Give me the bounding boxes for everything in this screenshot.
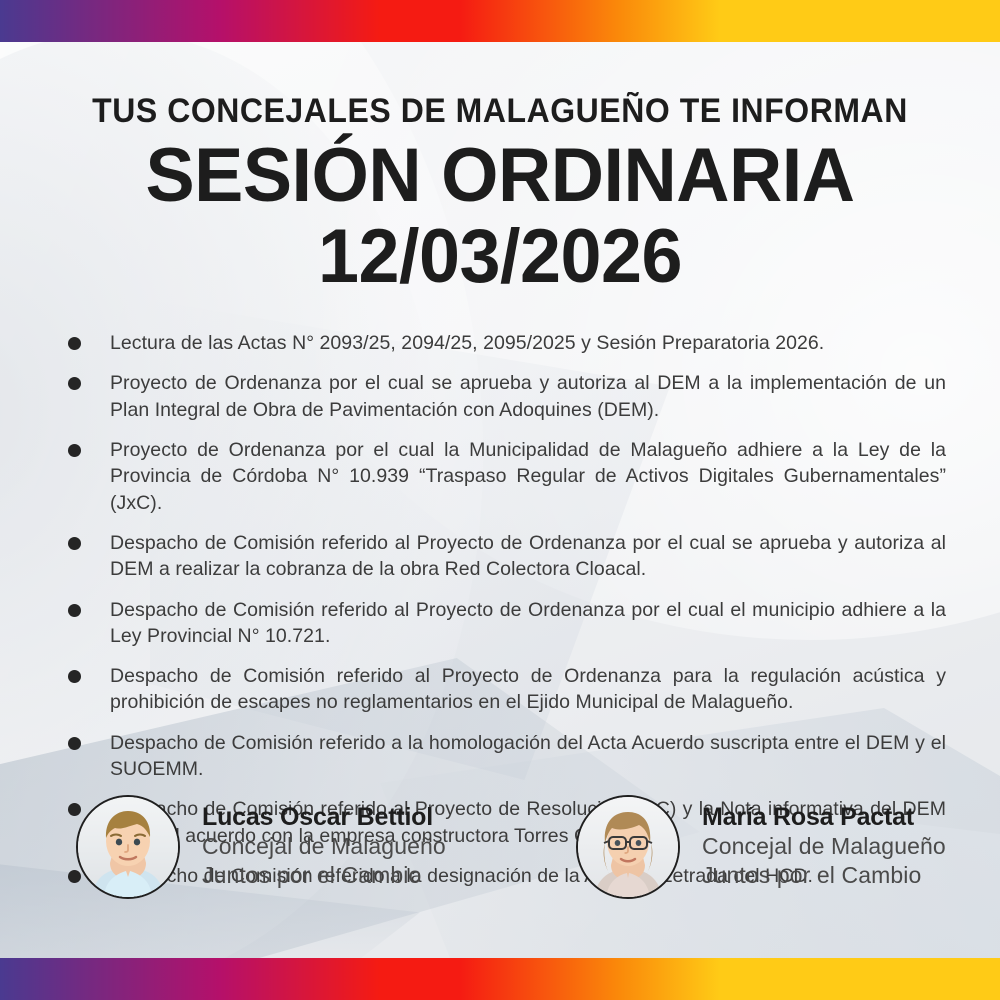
agenda-item-text: Lectura de las Actas N° 2093/25, 2094/25…: [110, 330, 946, 356]
bullet-icon: [68, 737, 81, 750]
bullet-icon: [68, 604, 81, 617]
councillor-info: María Rosa PactatConcejal de MalagueñoJu…: [702, 795, 946, 889]
top-gradient-bar: [0, 0, 1000, 42]
agenda-item-text: Despacho de Comisión referido a la homol…: [110, 730, 946, 783]
page-kicker: TUS CONCEJALES DE MALAGUEÑO TE INFORMAN: [30, 92, 970, 131]
bullet-icon: [68, 377, 81, 390]
councillor-list: Lucas Oscar BettiolConcejal de Malagueño…: [0, 795, 1000, 899]
avatar: [576, 795, 680, 899]
bullet-icon: [68, 444, 81, 457]
bottom-gradient-bar: [0, 958, 1000, 1000]
councillor-card: Lucas Oscar BettiolConcejal de Malagueño…: [0, 795, 500, 899]
avatar: [76, 795, 180, 899]
bullet-icon: [68, 537, 81, 550]
agenda-item-text: Despacho de Comisión referido al Proyect…: [110, 530, 946, 583]
councillor-name: Lucas Oscar Bettiol: [202, 803, 446, 832]
page-title: SESIÓN ORDINARIA 12/03/2026: [0, 140, 1000, 294]
agenda-item-text: Despacho de Comisión referido al Proyect…: [110, 597, 946, 650]
page-title-line-2: 12/03/2026: [15, 221, 985, 294]
councillor-role: Concejal de Malagueño: [702, 832, 946, 861]
agenda-item: Proyecto de Ordenanza por el cual se apr…: [68, 370, 946, 423]
agenda-item-text: Proyecto de Ordenanza por el cual se apr…: [110, 370, 946, 423]
session-agenda-poster: TUS CONCEJALES DE MALAGUEÑO TE INFORMAN …: [0, 0, 1000, 1000]
councillor-name: María Rosa Pactat: [702, 803, 946, 832]
bullet-icon: [68, 337, 81, 350]
councillor-card: María Rosa PactatConcejal de MalagueñoJu…: [500, 795, 1000, 899]
councillor-info: Lucas Oscar BettiolConcejal de Malagueño…: [202, 795, 446, 889]
agenda-item: Despacho de Comisión referido al Proyect…: [68, 663, 946, 716]
agenda-item: Despacho de Comisión referido al Proyect…: [68, 530, 946, 583]
agenda-item-text: Despacho de Comisión referido al Proyect…: [110, 663, 946, 716]
agenda-item: Lectura de las Actas N° 2093/25, 2094/25…: [68, 330, 946, 356]
councillor-party: Juntos por el Cambio: [202, 861, 446, 890]
councillor-party: Juntos por el Cambio: [702, 861, 946, 890]
agenda-item: Proyecto de Ordenanza por el cual la Mun…: [68, 437, 946, 516]
agenda-item: Despacho de Comisión referido al Proyect…: [68, 597, 946, 650]
councillor-role: Concejal de Malagueño: [202, 832, 446, 861]
agenda-item-text: Proyecto de Ordenanza por el cual la Mun…: [110, 437, 946, 516]
agenda-item: Despacho de Comisión referido a la homol…: [68, 730, 946, 783]
bullet-icon: [68, 670, 81, 683]
page-title-line-1: SESIÓN ORDINARIA: [15, 140, 985, 213]
